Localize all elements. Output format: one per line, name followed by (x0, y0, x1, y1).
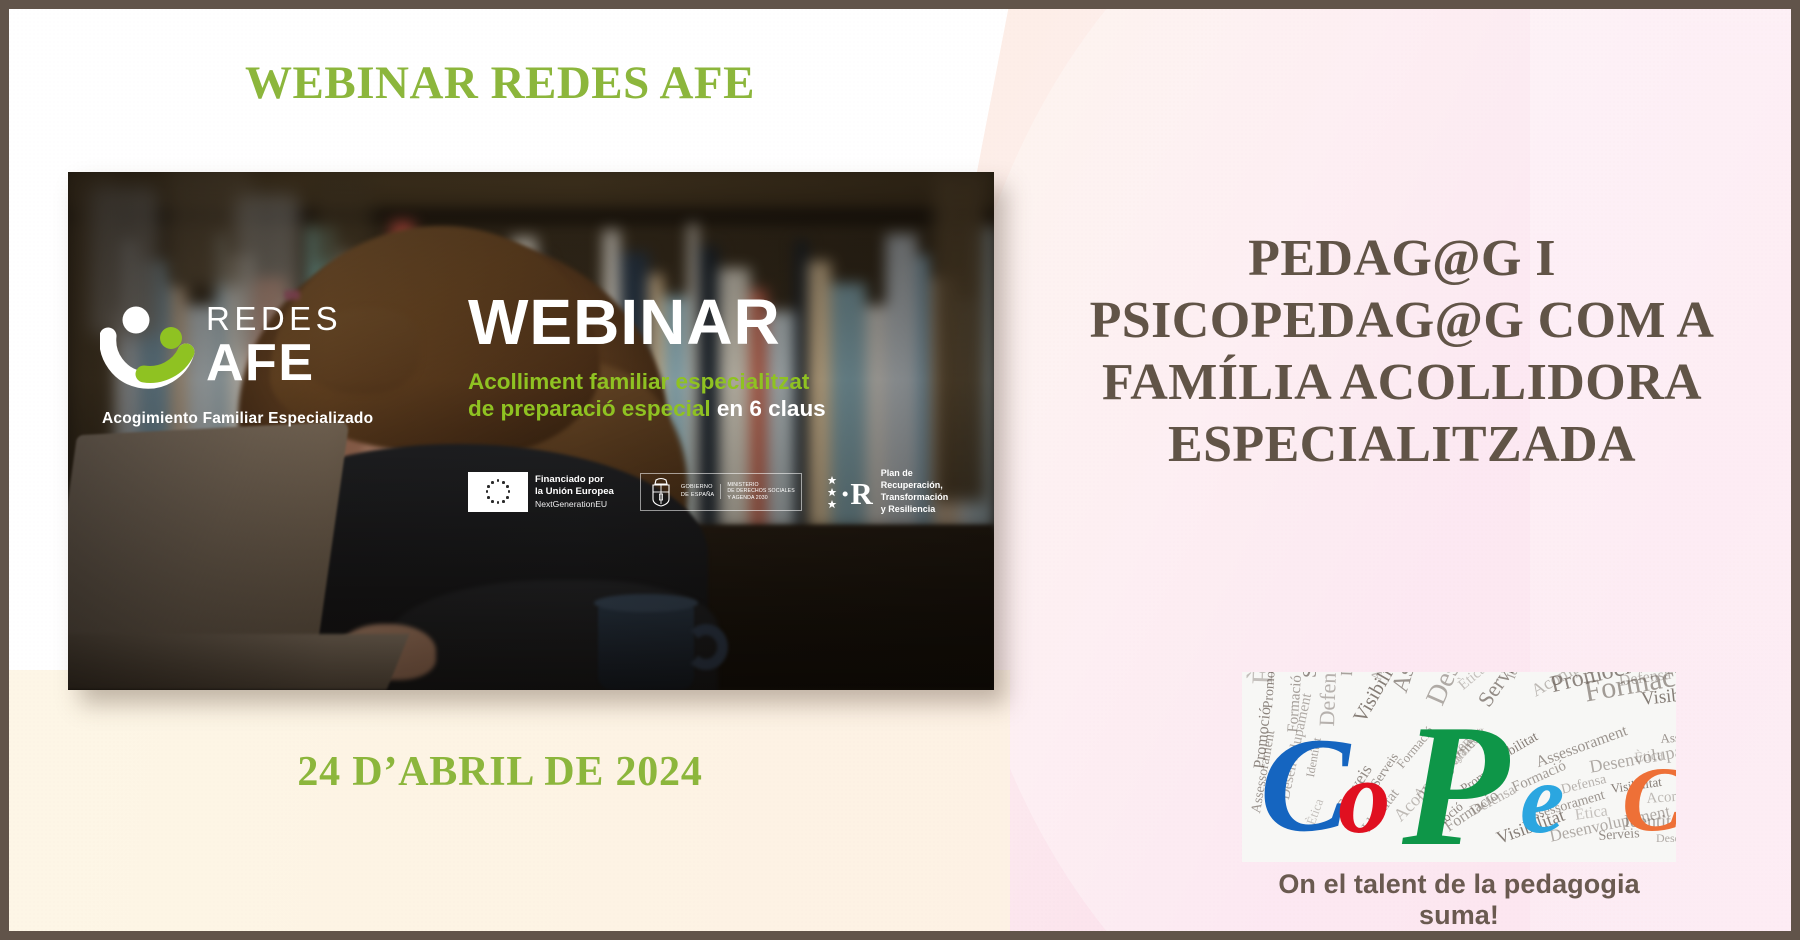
slide-canvas: WEBINAR REDES AFE (0, 0, 1800, 940)
page-title-line2: PSICOPEDAG@G COM A (1022, 290, 1782, 352)
cloud-word: Ètica (1304, 797, 1325, 827)
redes-afe-wordmark: REDES AFE (206, 302, 342, 390)
eu-star (502, 500, 505, 503)
eu-star (491, 500, 494, 503)
page-title-line1: PEDAG@G I (1022, 228, 1782, 290)
event-date: 24 D’ABRIL DE 2024 (70, 748, 930, 796)
webinar-subtitle-line2-white: en 6 claus (717, 396, 826, 421)
eu-star (487, 496, 490, 499)
ptr-symbol-icon: ·R (828, 471, 874, 513)
eu-star (486, 490, 489, 493)
cloud-word: Desenvolupament (1656, 832, 1676, 844)
webinar-subtitle-line1: Acolliment familiar especialitzat (468, 368, 968, 395)
gobierno-ministerio-logo: GOBIERNO DE ESPAÑA MINISTERIO DE DERECHO… (640, 473, 802, 511)
ministry-line3: Y AGENDA 2030 (727, 495, 794, 502)
webinar-text-block: WEBINAR Acolliment familiar especialitza… (468, 290, 968, 423)
cloud-word: Promoció (1262, 672, 1280, 709)
funding-logos-strip: Financiado por la Unión Europea NextGene… (468, 468, 948, 516)
eu-line1: Financiado por (535, 474, 604, 485)
eu-flag-icon (468, 472, 528, 512)
cloud-word: Ètica (1634, 749, 1664, 766)
svg-text:·R: ·R (840, 476, 873, 511)
ptr-line1: Plan de (881, 468, 949, 480)
ptr-line2: Recuperación, (881, 480, 949, 492)
gob-line1: GOBIERNO (681, 484, 714, 491)
cope-wordcloud: ÈticaServeisIdentitatAcompanyamentPromoc… (1242, 672, 1676, 862)
spain-coat-of-arms-icon (647, 477, 675, 507)
cloud-word: Formació (1394, 724, 1436, 771)
webinar-subtitle-line2: de preparació especial en 6 claus (468, 395, 968, 422)
ministry-line2: DE DERECHOS SOCIALES (727, 488, 794, 495)
ptr-line3: Transformación (881, 492, 949, 504)
eu-star (497, 501, 500, 504)
webinar-subtitle-line2-green: de preparació especial (468, 396, 711, 421)
eu-star (491, 481, 494, 484)
cloud-word: Identitat (1304, 737, 1323, 778)
redes-afe-logo: REDES AFE Acogimiento Familiar Especiali… (100, 300, 344, 440)
afe-tagline: Acogimiento Familiar Especializado (102, 410, 373, 428)
ptr-plan-logo: ·R Plan de Recuperación, Transformación … (828, 468, 949, 516)
webinar-promo-image: REDES AFE Acogimiento Familiar Especiali… (68, 172, 994, 690)
ministerio-label: MINISTERIO DE DERECHOS SOCIALES Y AGENDA… (727, 482, 794, 502)
eu-funding-logo: Financiado por la Unión Europea NextGene… (468, 472, 614, 512)
afe-afe-text: AFE (206, 337, 342, 390)
page-title: PEDAG@G I PSICOPEDAG@G COM A FAMÍLIA ACO… (1022, 228, 1782, 476)
eu-star (508, 490, 511, 493)
webinar-word: WEBINAR (468, 290, 968, 354)
cope-tagline: On el talent de la pedagogia suma! (1242, 869, 1676, 931)
background-cream-panel (0, 670, 1010, 940)
page-title-line3: FAMÍLIA ACOLLIDORA (1022, 352, 1782, 414)
ministry-line1: MINISTERIO (727, 482, 794, 489)
page-title-line4: ESPECIALITZADA (1022, 414, 1782, 476)
webinar-subtitle: Acolliment familiar especialitzat de pre… (468, 368, 968, 423)
cloud-word: Assessorament (1660, 727, 1676, 745)
cope-logo: ÈticaServeisIdentitatAcompanyamentPromoc… (1242, 672, 1676, 931)
eu-star (497, 479, 500, 482)
eu-funding-text: Financiado por la Unión Europea NextGene… (535, 474, 614, 510)
eu-star (487, 485, 490, 488)
redes-afe-smile-icon (100, 300, 196, 396)
eu-star (506, 496, 509, 499)
cloud-word: Serveis (1334, 762, 1375, 813)
cloud-word: Identitat (1624, 812, 1676, 830)
cloud-word: Defensa (1316, 672, 1341, 727)
ptr-line4: y Resiliencia (881, 504, 949, 516)
eu-line3: NextGenerationEU (535, 499, 614, 510)
afe-redes-text: REDES (206, 302, 342, 335)
ptr-plan-text: Plan de Recuperación, Transformación y R… (881, 468, 949, 516)
eu-line2: la Unión Europea (535, 486, 614, 497)
kicker-heading: WEBINAR REDES AFE (70, 56, 930, 110)
eu-star (506, 485, 509, 488)
gob-line2: DE ESPAÑA (681, 492, 714, 499)
gobierno-label: GOBIERNO DE ESPAÑA (681, 484, 721, 499)
eu-star (502, 481, 505, 484)
